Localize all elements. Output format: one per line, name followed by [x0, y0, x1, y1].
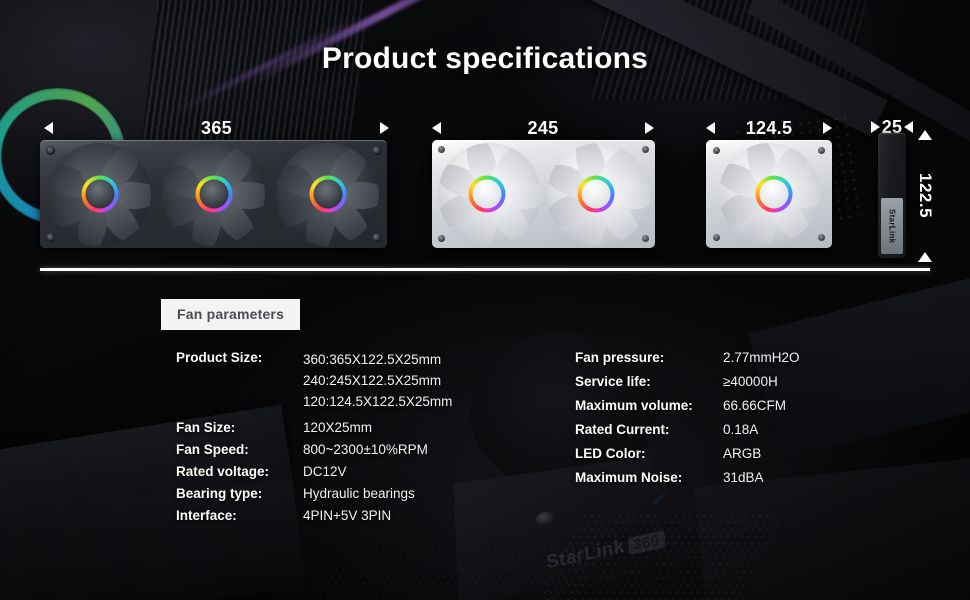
mounting-hole-icon — [818, 147, 825, 154]
side-view-brand-label: StarLink — [881, 198, 903, 254]
arrow-right-icon — [871, 121, 880, 133]
fan-unit — [545, 144, 651, 244]
fan-hub — [760, 180, 789, 209]
arrow-left-icon — [44, 122, 53, 134]
fan-hub — [313, 180, 342, 209]
spec-row: Rated voltage: DC12V — [176, 464, 452, 479]
fan-hub — [199, 180, 228, 209]
fan-hub — [582, 180, 611, 209]
product-fan-240 — [432, 140, 655, 248]
spec-row: Service life: ≥40000H — [575, 374, 800, 389]
fan-frame-white — [706, 140, 832, 248]
spec-value: 66.66CFM — [723, 398, 786, 413]
fan-unit — [436, 144, 542, 244]
dimension-245: 245 — [432, 117, 654, 139]
dimension-365: 365 — [44, 117, 389, 139]
spec-value: ARGB — [723, 446, 761, 461]
mounting-hole-icon — [46, 233, 55, 242]
mounting-hole-icon — [713, 234, 720, 241]
product-fan-360 — [40, 140, 387, 248]
spec-value-line: 240:245X122.5X25mm — [303, 371, 452, 392]
fan-unit — [158, 144, 269, 244]
spec-value: 2.77mmH2O — [723, 350, 800, 365]
page-title: Product specifications — [0, 42, 970, 76]
spec-key: Product Size: — [176, 350, 303, 365]
product-fan-120 — [706, 140, 832, 248]
spec-key: Bearing type: — [176, 486, 303, 501]
spec-value: ≥40000H — [723, 374, 778, 389]
fan-parameters-tab: Fan parameters — [161, 299, 300, 330]
fan-hub — [85, 180, 114, 209]
dimension-value: 365 — [201, 118, 232, 139]
spec-value-line: 360:365X122.5X25mm — [303, 350, 452, 371]
mounting-hole-icon — [818, 234, 825, 241]
foreground-content: Product specifications 365 245 124.5 25 — [0, 0, 970, 600]
mounting-hole-icon — [438, 235, 445, 242]
dimension-value: 245 — [528, 118, 559, 139]
arrow-right-icon — [380, 122, 389, 134]
fan-unit — [272, 144, 383, 244]
spec-value: 31dBA — [723, 470, 764, 485]
spec-key: Fan Speed: — [176, 442, 303, 457]
fan-unit — [44, 144, 155, 244]
spec-key: Interface: — [176, 508, 303, 523]
side-view-brand-text: StarLink — [888, 209, 897, 243]
spec-row: Rated Current: 0.18A — [575, 422, 800, 437]
spec-value: 360:365X122.5X25mm 240:245X122.5X25mm 12… — [303, 350, 452, 413]
spec-column-right: Fan pressure: 2.77mmH2O Service life: ≥4… — [575, 350, 800, 494]
spec-row: Interface: 4PIN+5V 3PIN — [176, 508, 452, 523]
spec-key: Fan pressure: — [575, 350, 723, 365]
mounting-hole-icon — [372, 233, 381, 242]
spec-value: Hydraulic bearings — [303, 486, 415, 501]
dimension-value: 122.5 — [915, 173, 935, 218]
spec-value: 120X25mm — [303, 420, 372, 435]
product-specifications-page: StarLink360 Product specifications 365 2… — [0, 0, 970, 600]
spec-value: 800~2300±10%RPM — [303, 442, 428, 457]
spec-key: Rated Current: — [575, 422, 723, 437]
spec-row: Maximum volume: 66.66CFM — [575, 398, 800, 413]
spec-row: Bearing type: Hydraulic bearings — [176, 486, 452, 501]
spec-key: Service life: — [575, 374, 723, 389]
mounting-hole-icon — [642, 146, 649, 153]
spec-key: Rated voltage: — [176, 464, 303, 479]
spec-row: Fan pressure: 2.77mmH2O — [575, 350, 800, 365]
mounting-hole-icon — [438, 146, 445, 153]
fan-frame-white — [432, 140, 655, 248]
arrow-left-icon — [706, 122, 715, 134]
mounting-hole-icon — [642, 235, 649, 242]
mounting-hole-icon — [46, 146, 55, 155]
spec-row: Maximum Noise: 31dBA — [575, 470, 800, 485]
spec-row: LED Color: ARGB — [575, 446, 800, 461]
arrow-up-icon-bottom — [918, 252, 932, 262]
spec-value: 0.18A — [723, 422, 758, 437]
arrow-up-icon — [918, 130, 932, 140]
fan-unit — [710, 144, 828, 244]
arrow-right-icon — [645, 122, 654, 134]
arrow-left-icon — [432, 122, 441, 134]
spec-row: Fan Speed: 800~2300±10%RPM — [176, 442, 452, 457]
spec-key: Maximum Noise: — [575, 470, 723, 485]
fan-parameters-label: Fan parameters — [177, 306, 284, 322]
spec-key: LED Color: — [575, 446, 723, 461]
fan-hub — [473, 180, 502, 209]
spec-row: Product Size: 360:365X122.5X25mm 240:245… — [176, 350, 452, 413]
dimension-124-5: 124.5 — [706, 117, 832, 139]
fan-frame-dark — [40, 140, 387, 248]
dimension-value: 124.5 — [746, 118, 793, 139]
spec-key: Maximum volume: — [575, 398, 723, 413]
section-divider — [40, 268, 930, 271]
mounting-hole-icon — [713, 147, 720, 154]
spec-value: DC12V — [303, 464, 347, 479]
spec-value-line: 120:124.5X122.5X25mm — [303, 392, 452, 413]
spec-column-left: Product Size: 360:365X122.5X25mm 240:245… — [176, 350, 452, 530]
dimension-122-5: 122.5 — [912, 130, 938, 262]
spec-key: Fan Size: — [176, 420, 303, 435]
spec-value: 4PIN+5V 3PIN — [303, 508, 391, 523]
arrow-right-icon — [823, 122, 832, 134]
mounting-hole-icon — [372, 146, 381, 155]
spec-row: Fan Size: 120X25mm — [176, 420, 452, 435]
